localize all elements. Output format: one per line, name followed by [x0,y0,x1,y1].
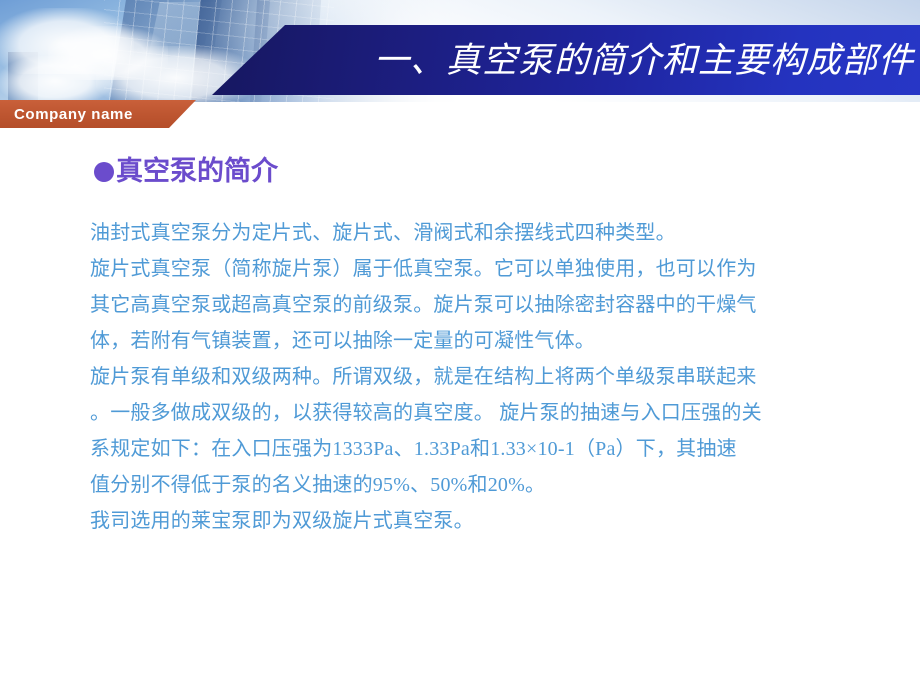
bullet-icon [94,162,114,182]
company-name-badge: Company name [0,100,196,128]
body-line: 系规定如下：在入口压强为1333Pa、1.33Pa和1.33×10-1（Pa）下… [90,431,860,467]
page-title: 一、真空泵的简介和主要构成部件 [374,43,920,78]
company-name-label: Company name [0,107,133,122]
glass-facade-panel [8,52,38,102]
body-line: 我司选用的莱宝泵即为双级旋片式真空泵。 [90,503,860,539]
body-line: 旋片式真空泵（简称旋片泵）属于低真空泵。它可以单独使用，也可以作为 [90,251,860,287]
body-line: 旋片泵有单级和双级两种。所谓双级，就是在结构上将两个单级泵串联起来 [90,359,860,395]
title-banner: 一、真空泵的简介和主要构成部件 [212,25,920,95]
presentation-slide: 一、真空泵的简介和主要构成部件 Company name 真空泵的简介 油封式真… [0,0,920,690]
body-line: 体，若附有气镇装置，还可以抽除一定量的可凝性气体。 [90,323,860,359]
section-heading: 真空泵的简介 [94,158,278,185]
slide-body: 真空泵的简介 油封式真空泵分为定片式、旋片式、滑阀式和余摆线式四种类型。 旋片式… [0,140,920,690]
body-line: 其它高真空泵或超高真空泵的前级泵。旋片泵可以抽除密封容器中的干燥气 [90,287,860,323]
body-line: 油封式真空泵分为定片式、旋片式、滑阀式和余摆线式四种类型。 [90,215,860,251]
body-line: 值分别不得低于泵的名义抽速的95%、50%和20%。 [90,467,860,503]
body-line: 。一般多做成双级的，以获得较高的真空度。 旋片泵的抽速与入口压强的关 [90,395,860,431]
section-heading-label: 真空泵的简介 [116,156,278,186]
body-paragraphs: 油封式真空泵分为定片式、旋片式、滑阀式和余摆线式四种类型。 旋片式真空泵（简称旋… [90,215,860,539]
